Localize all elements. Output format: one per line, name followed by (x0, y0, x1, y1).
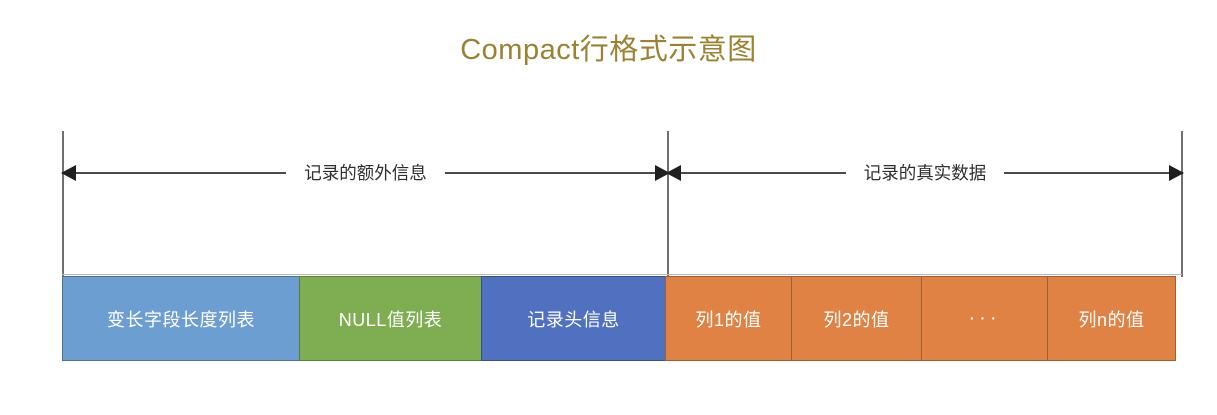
span-label-real-data: 记录的真实数据 (846, 165, 1005, 183)
row-segment: 变长字段长度列表 (62, 276, 300, 361)
arrow-head-right-icon (445, 172, 669, 174)
arrow-head-left-icon (62, 172, 286, 174)
row-segment: NULL值列表 (299, 276, 482, 361)
span-arrow-extra-info: 记录的额外信息 (62, 152, 669, 194)
row-segment: 列n的值 (1047, 276, 1176, 361)
span-arrow-real-data: 记录的真实数据 (667, 152, 1183, 194)
row-segment: 记录头信息 (481, 276, 666, 361)
arrow-head-right-icon (1004, 172, 1183, 174)
row-segment: ··· (921, 276, 1048, 361)
strip-top-rule (62, 274, 1182, 275)
compact-row-format-diagram: Compact行格式示意图 记录的额外信息 记录的真实数据 变长字段长度列表NU… (0, 0, 1217, 415)
arrow-head-left-icon (667, 172, 846, 174)
row-segment: 列1的值 (665, 276, 792, 361)
row-segment: 列2的值 (791, 276, 922, 361)
page-title: Compact行格式示意图 (0, 26, 1217, 68)
row-format-strip: 变长字段长度列表NULL值列表记录头信息列1的值列2的值···列n的值 (62, 276, 1176, 361)
span-label-extra-info: 记录的额外信息 (286, 165, 445, 183)
